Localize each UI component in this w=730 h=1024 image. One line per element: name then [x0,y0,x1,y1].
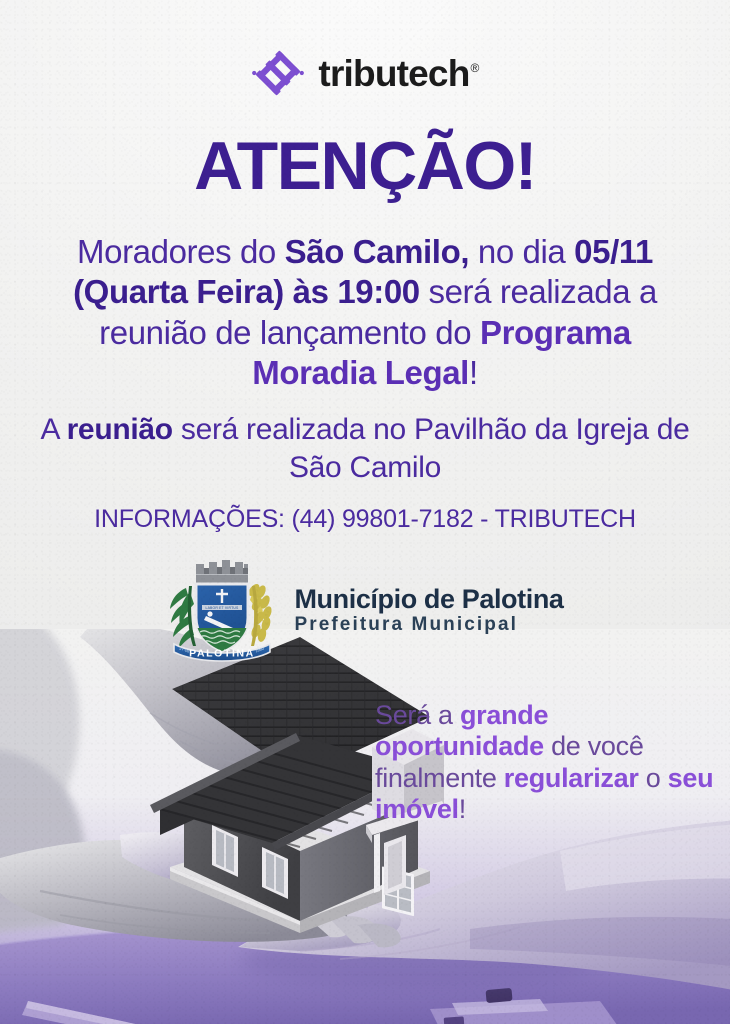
municipality-name: Município de Palotina [294,585,563,613]
crest-banner-label: PALOTINA [190,648,256,660]
slogan-text: Será a grande oportunidade de você final… [375,700,715,825]
venue-text: A reunião será realizada no Pavilhão da … [34,411,696,487]
wordmark-text: tributech [318,53,469,94]
poster-root: tributech® ATENÇÃO! Moradores do São Cam… [0,0,730,1024]
venue-prefix: A [40,413,66,446]
hand-holding-model-house-photo [0,629,730,1024]
registered-trademark-symbol: ® [471,61,479,75]
announcement-part-0: Moradores do [77,233,285,270]
announcement-part-6: ! [469,354,478,391]
page-title: ATENÇÃO! [0,132,730,200]
slogan-highlight-regularize: regularizar [504,763,639,793]
slogan-part-6: ! [459,794,466,824]
slogan-part-0: Será a [375,700,460,730]
contact-info: INFORMAÇÕES: (44) 99801-7182 - TRIBUTECH [34,504,696,534]
laurel-branch [170,586,196,648]
announcement-neighborhood: São Camilo, [285,233,469,270]
announcement-text: Moradores do São Camilo, no dia 05/11 (Q… [34,232,696,393]
government-lockup: LABOR ET VIRTUS PALOTINA 27-06 1 [0,556,730,664]
palotina-coat-of-arms-icon: LABOR ET VIRTUS PALOTINA 27-06 1 [166,556,278,664]
svg-text:LABOR ET VIRTUS: LABOR ET VIRTUS [206,606,240,610]
government-text-block: Município de Palotina Prefeitura Municip… [294,585,563,635]
venue-suffix: será realizada no Pavilhão da Igreja de … [173,413,690,484]
slogan-part-4: o [639,763,668,793]
tributech-wordmark: tributech® [318,55,478,92]
wheat-branch [247,582,274,646]
venue-bold-word: reunião [67,413,173,446]
mural-crown [196,560,248,586]
tributech-diamond-logo-icon [251,46,305,100]
announcement-part-2: no dia [469,233,574,270]
brand-logo: tributech® [0,46,730,100]
municipality-subtitle: Prefeitura Municipal [294,615,563,635]
